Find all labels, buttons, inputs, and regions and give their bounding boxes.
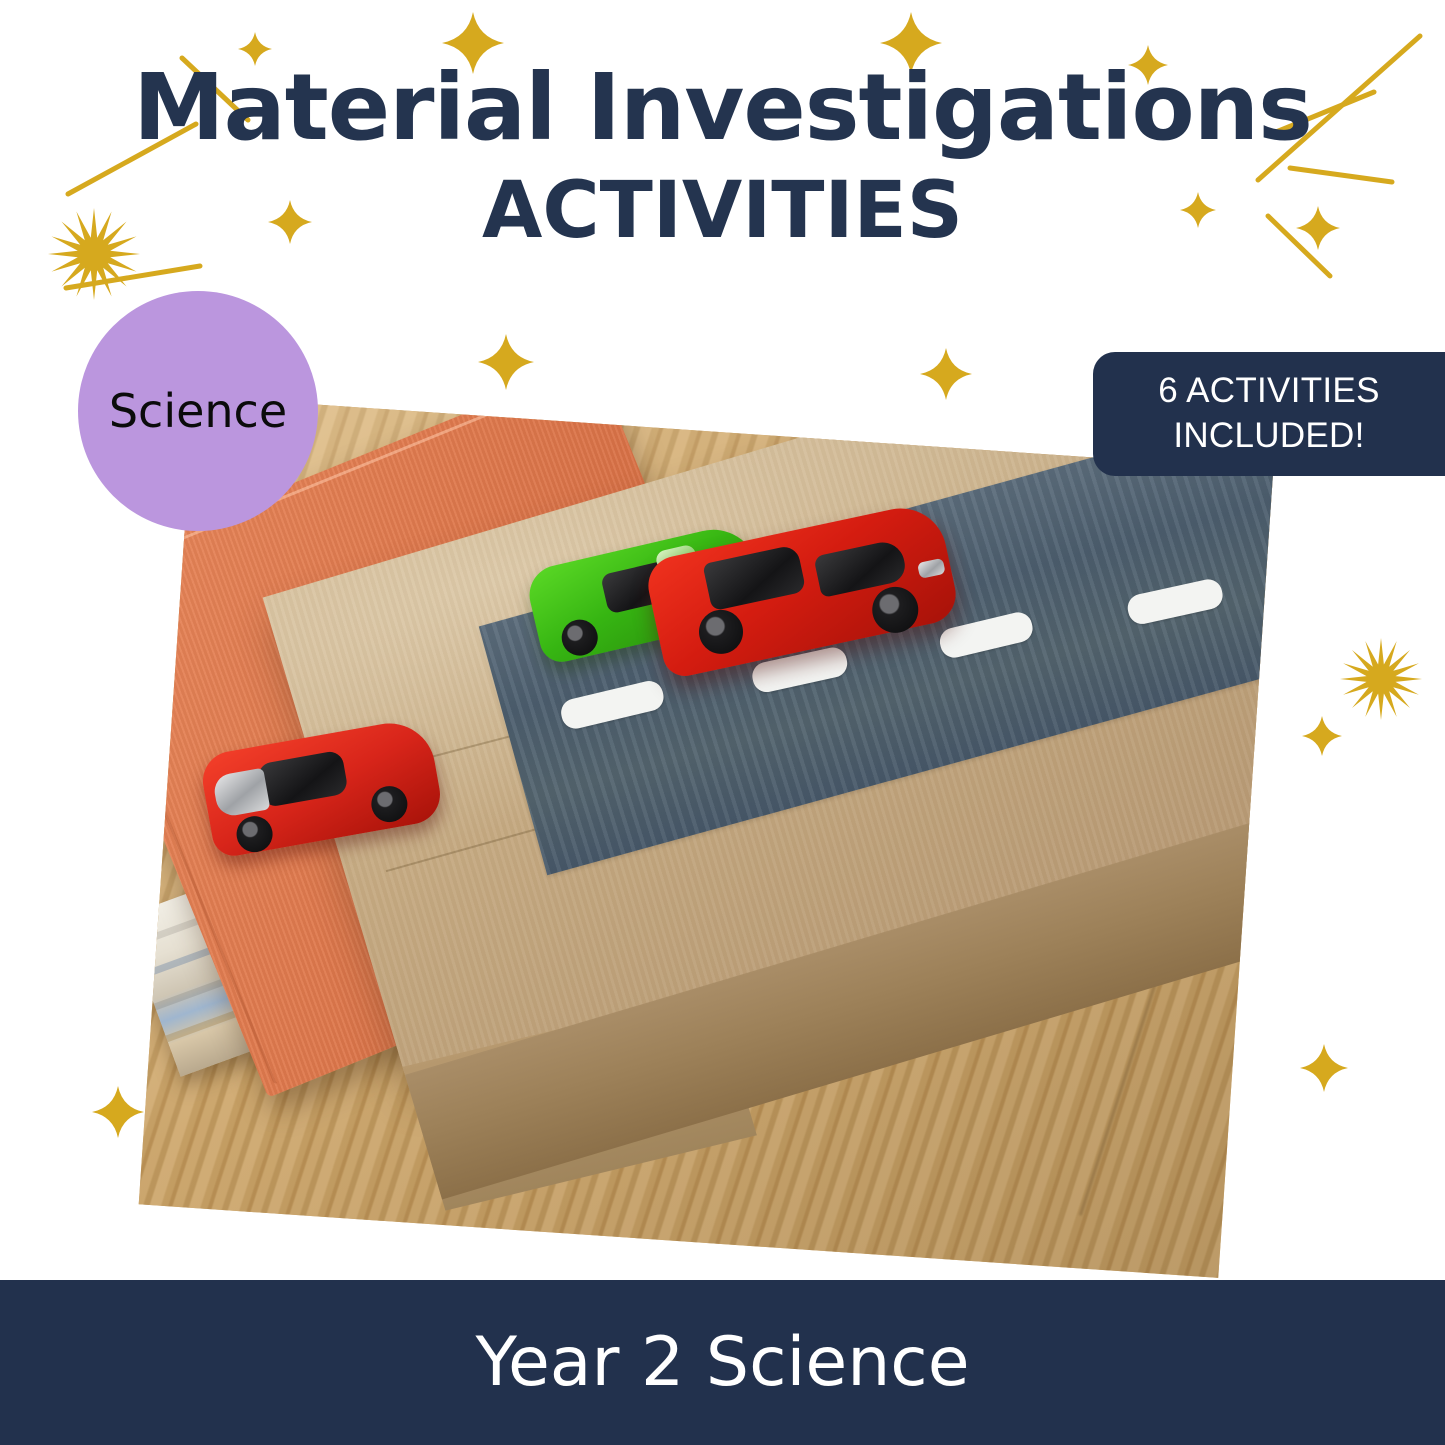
product-photo [139,396,1274,1278]
photo-content [139,396,1274,1278]
activity-count-badge: 6 ACTIVITIES INCLUDED! [1093,352,1445,476]
sparkle-band-right [920,348,972,400]
starburst-right [1340,638,1422,720]
title-line-primary: Material Investigations [0,62,1445,154]
sparkle-bottom-right [1300,1044,1348,1092]
sparkle-band-left [478,334,534,390]
ray-line [66,266,200,288]
sparkle-bottom-left [92,1086,144,1138]
title-line-secondary: ACTIVITIES [0,172,1445,250]
activity-count-line1: 6 ACTIVITIES [1158,371,1379,410]
activity-count-line2: INCLUDED! [1173,416,1364,455]
sparkle-right-mid [1302,716,1342,756]
activity-count-label: 6 ACTIVITIES INCLUDED! [1158,369,1379,459]
bottom-banner-label: Year 2 Science [475,1329,969,1397]
subject-badge: Science [78,291,318,531]
poster-canvas: Material Investigations ACTIVITIES [0,0,1445,1445]
subject-badge-label: Science [109,388,287,434]
page-title: Material Investigations ACTIVITIES [0,62,1445,250]
bottom-banner: Year 2 Science [0,1280,1445,1445]
